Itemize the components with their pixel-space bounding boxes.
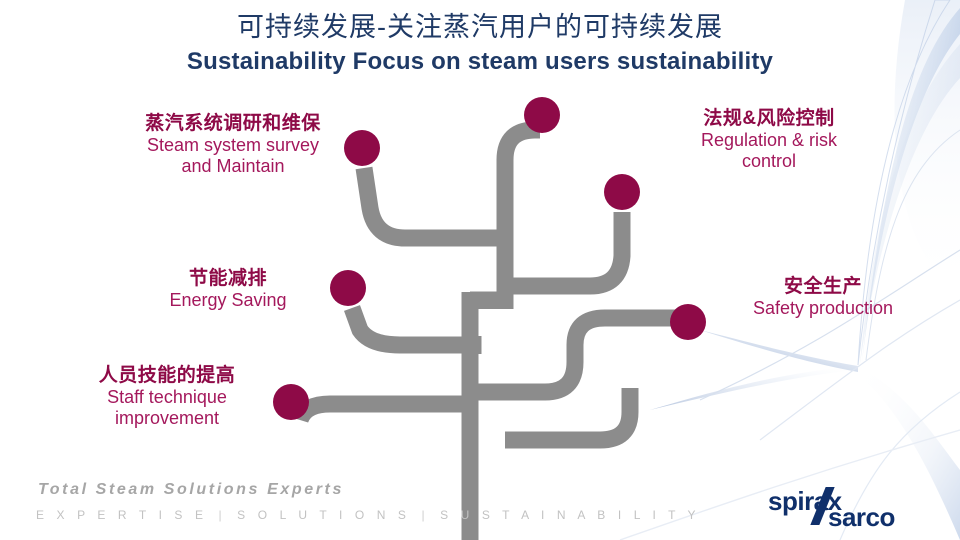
node-regulation [604,174,640,210]
label-energy-saving-cn: 节能减排 [128,268,328,290]
footer-pillar-expertise: E X P E R T I S E [36,508,208,522]
slide-canvas: 可持续发展-关注蒸汽用户的可持续发展 Sustainability Focus … [0,0,960,540]
label-regulation-risk-control-en-1: Regulation & risk [660,130,878,151]
label-safety-production-en-1: Safety production [728,298,918,319]
label-staff-technique-en-1: Staff technique [62,387,272,408]
footer-separator-2: | [418,508,432,522]
label-steam-system-survey-en-2: and Maintain [118,156,348,177]
node-top-center [524,97,560,133]
label-staff-technique-en-2: improvement [62,408,272,429]
footer-pillars: E X P E R T I S E | S O L U T I O N S | … [36,508,700,522]
label-energy-saving: 节能减排 Energy Saving [128,268,328,311]
spirax-sarco-logo: spirax sarco [766,484,946,532]
label-energy-saving-en-1: Energy Saving [128,290,328,311]
label-safety-production-cn: 安全生产 [728,276,918,298]
logo-word-sarco: sarco [828,502,895,533]
footer-tagline: Total Steam Solutions Experts [38,481,344,499]
node-staff [273,384,309,420]
label-regulation-risk-control-cn: 法规&风险控制 [660,108,878,130]
label-regulation-risk-control: 法规&风险控制 Regulation & risk control [660,108,878,172]
footer-pillar-sustainability: S U S T A I N A B I L I T Y [440,508,700,522]
label-steam-system-survey-cn: 蒸汽系统调研和维保 [118,113,348,135]
node-energy-saving [330,270,366,306]
label-steam-system-survey-en-1: Steam system survey [118,135,348,156]
node-steam-survey [344,130,380,166]
label-staff-technique-cn: 人员技能的提高 [62,365,272,387]
node-safety [670,304,706,340]
label-steam-system-survey: 蒸汽系统调研和维保 Steam system survey and Mainta… [118,113,348,177]
footer-separator-1: | [216,508,230,522]
footer-pillar-solutions: S O L U T I O N S [237,508,410,522]
label-staff-technique: 人员技能的提高 Staff technique improvement [62,365,272,429]
label-safety-production: 安全生产 Safety production [728,276,918,319]
label-regulation-risk-control-en-2: control [660,151,878,172]
